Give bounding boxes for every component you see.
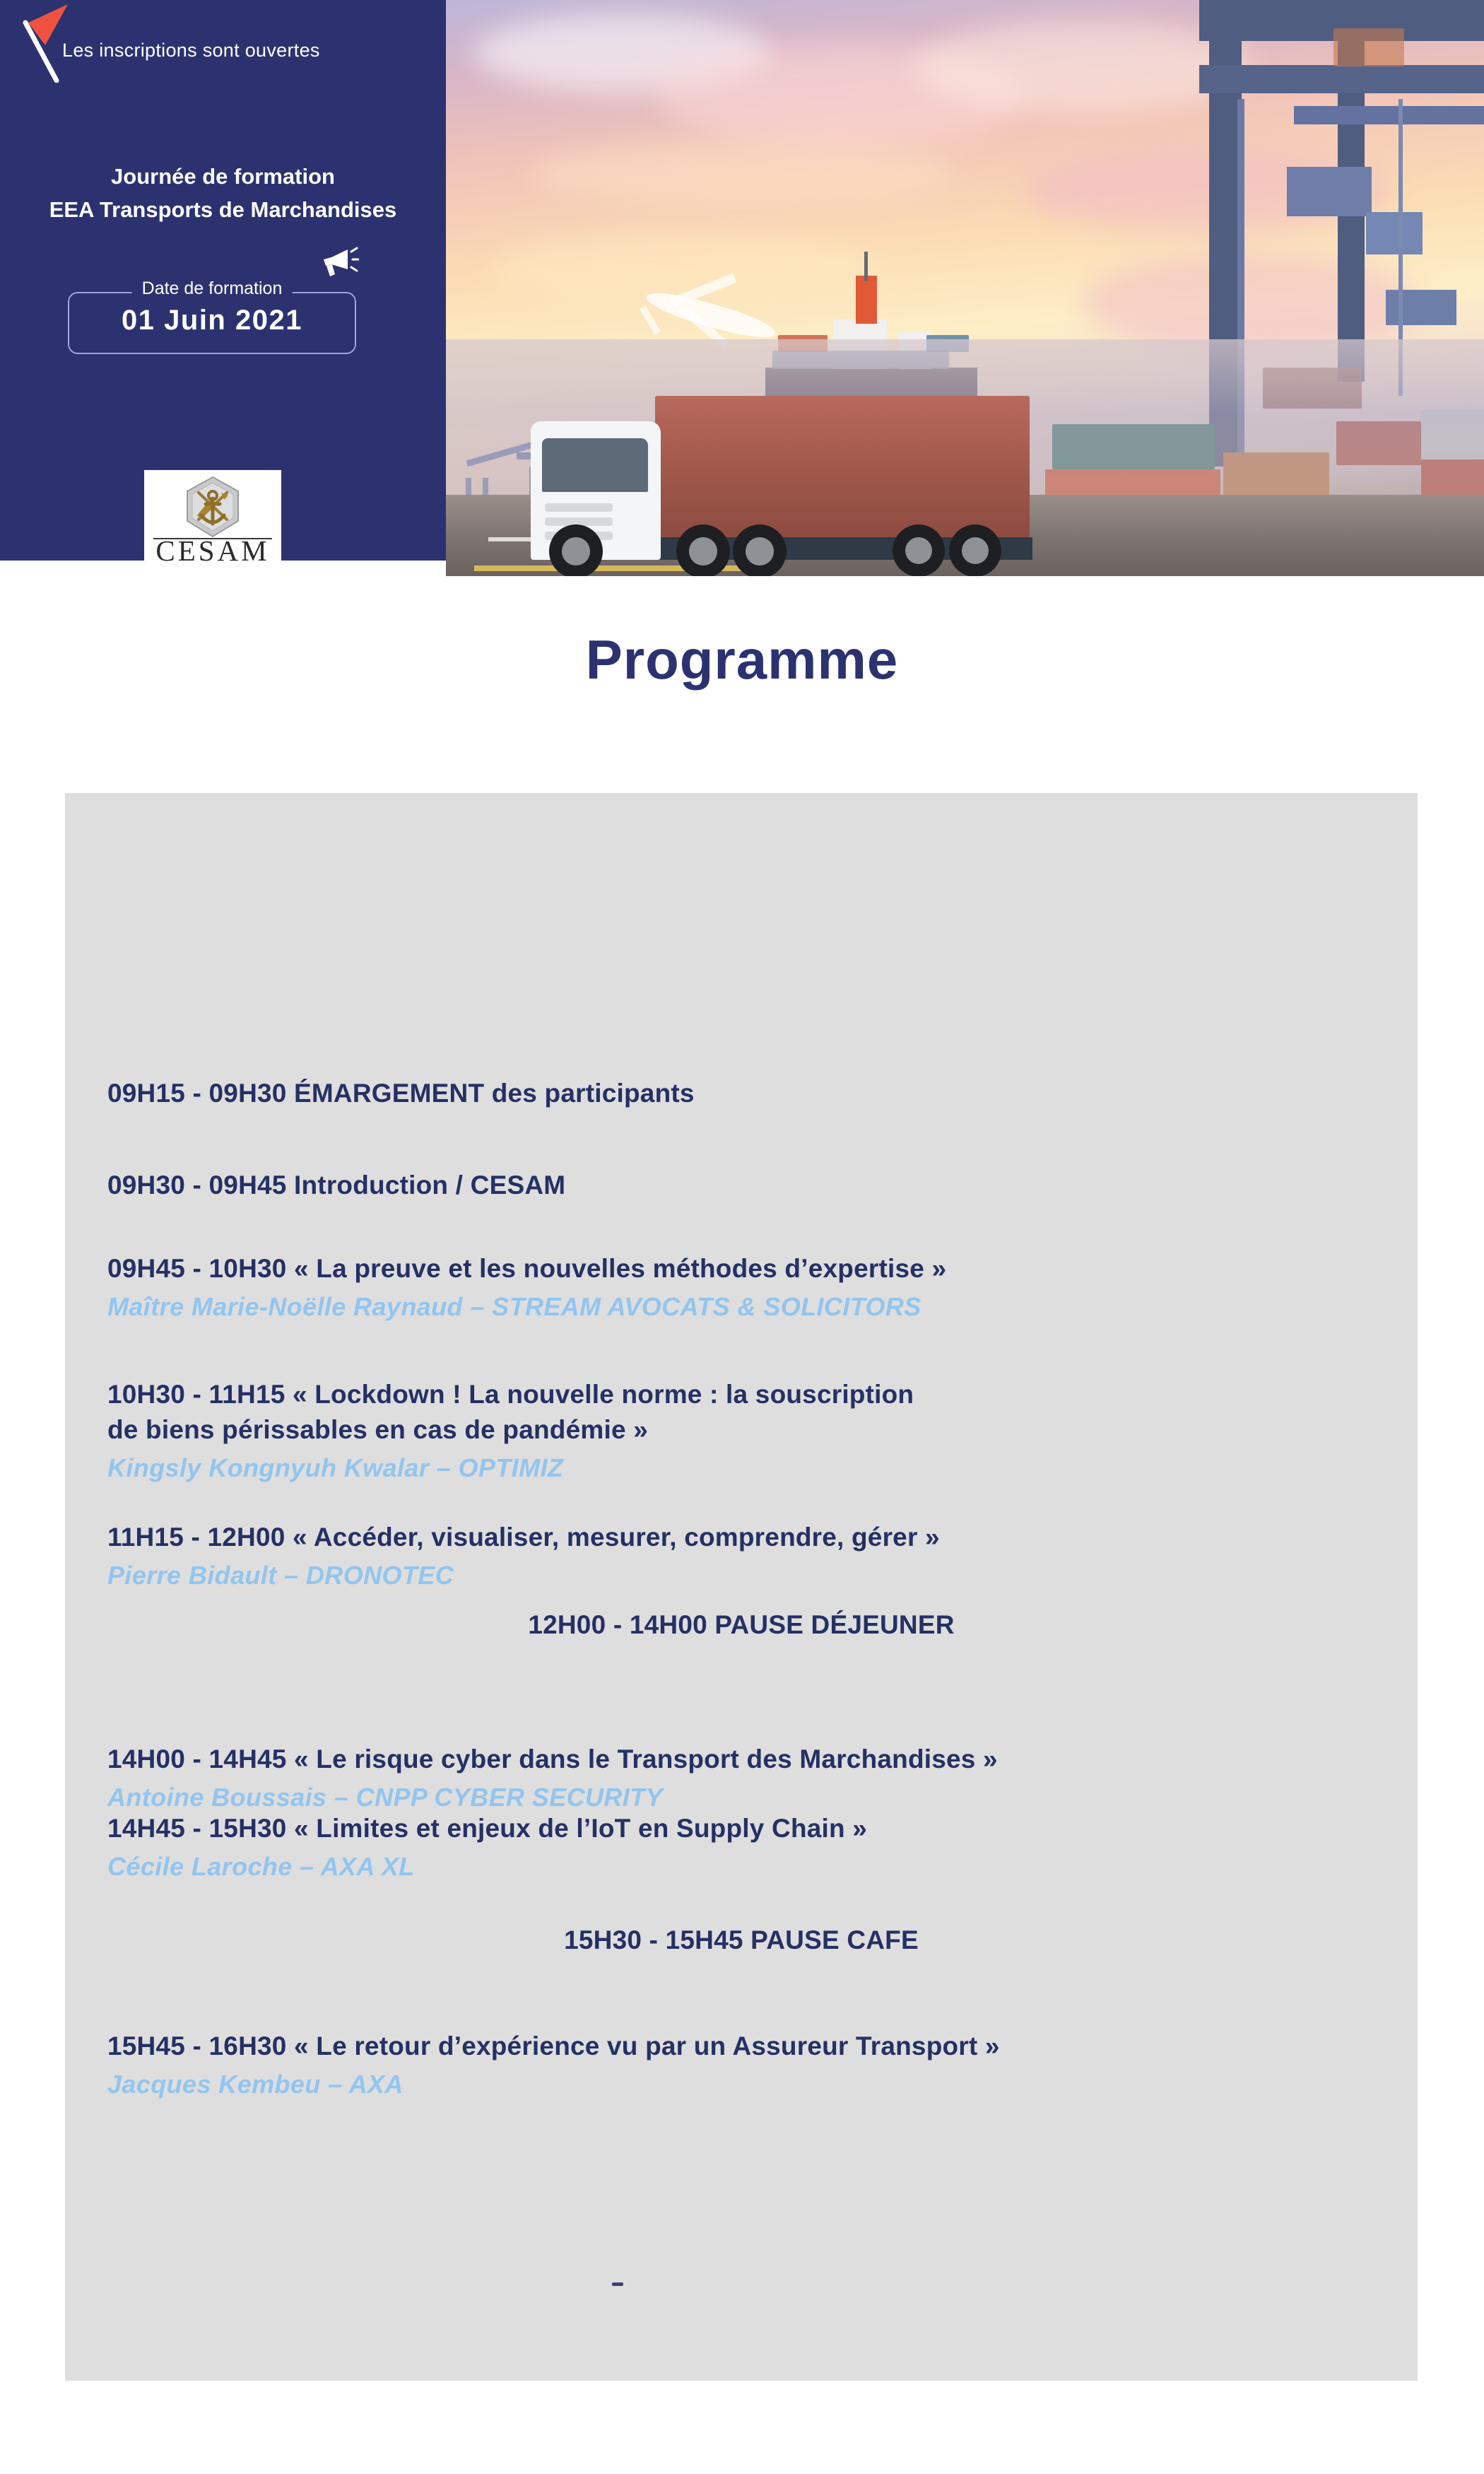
hero-image <box>446 0 1484 576</box>
program-entry: 14H00 - 14H45 « Le risque cyber dans le … <box>107 1742 998 1815</box>
program-entry: 09H15 - 09H30 ÉMARGEMENT des participant… <box>107 1076 695 1111</box>
program-entry-title: 15H30 - 15H45 PAUSE CAFE <box>65 1923 1418 1958</box>
date-box: Date de formation 01 Juin 2021 <box>68 292 356 354</box>
header-banner: Les inscriptions sont ouvertes Journée d… <box>0 0 1484 580</box>
cesam-wordmark: CESAM <box>144 537 281 565</box>
event-title-line-1: Journée de formation <box>0 160 446 193</box>
program-entry-title: 09H45 - 10H30 « La preuve et les nouvell… <box>107 1251 946 1286</box>
program-entry-title: 09H15 - 09H30 ÉMARGEMENT des participant… <box>107 1076 695 1111</box>
date-label: Date de formation <box>132 279 293 299</box>
program-entry: 11H15 - 12H00 « Accéder, visualiser, mes… <box>107 1520 940 1593</box>
event-title-line-2: EEA Transports de Marchandises <box>0 193 446 226</box>
program-entry-speaker: Maître Marie-Noëlle Raynaud – STREAM AVO… <box>107 1290 946 1324</box>
program-entry: 15H30 - 15H45 PAUSE CAFE <box>65 1923 1418 1958</box>
program-entry-title: 11H15 - 12H00 « Accéder, visualiser, mes… <box>107 1520 940 1555</box>
program-entry-title: 15H45 - 16H30 « Le retour d’expérience v… <box>107 2029 1000 2064</box>
program-entry: 09H30 - 09H45 Introduction / CESAM <box>107 1168 565 1203</box>
cesam-hexagon-anchor-emblem-icon <box>180 474 245 539</box>
announcement-text: Les inscriptions sont ouvertes <box>62 40 387 61</box>
page-title: Programme <box>0 628 1484 692</box>
program-entry-title: 14H00 - 14H45 « Le risque cyber dans le … <box>107 1742 998 1777</box>
program-entry: 15H45 - 16H30 « Le retour d’expérience v… <box>107 2029 1000 2101</box>
program-entry: 09H45 - 10H30 « La preuve et les nouvell… <box>107 1251 946 1324</box>
megaphone-icon <box>319 246 359 283</box>
cesam-logo: CESAM <box>144 470 281 565</box>
program-entry: 12H00 - 14H00 PAUSE DÉJEUNER <box>65 1607 1418 1643</box>
program-entry-speaker: Cécile Laroche – AXA XL <box>107 1850 867 1884</box>
program-entry-title: 12H00 - 14H00 PAUSE DÉJEUNER <box>65 1607 1418 1643</box>
program-entry-title: 14H45 - 15H30 « Limites et enjeux de l’I… <box>107 1811 867 1846</box>
event-title: Journée de formation EEA Transports de M… <box>0 160 446 226</box>
program-entry: 10H30 - 11H15 « Lockdown ! La nouvelle n… <box>107 1377 914 1485</box>
program-entry-title: 10H30 - 11H15 « Lockdown ! La nouvelle n… <box>107 1377 914 1448</box>
program-entry: 14H45 - 15H30 « Limites et enjeux de l’I… <box>107 1811 867 1884</box>
program-panel: 09H15 - 09H30 ÉMARGEMENT des participant… <box>65 793 1418 2381</box>
program-entry-title: 09H30 - 09H45 Introduction / CESAM <box>107 1168 565 1203</box>
program-entry-speaker: Kingsly Kongnyuh Kwalar – OPTIMIZ <box>107 1451 914 1485</box>
date-value: 01 Juin 2021 <box>69 305 355 336</box>
program-entry-speaker: Pierre Bidault – DRONOTEC <box>107 1559 940 1593</box>
stray-dash-mark <box>612 2282 623 2286</box>
program-entry-speaker: Jacques Kembeu – AXA <box>107 2068 1000 2101</box>
program-entry-speaker: Antoine Boussais – CNPP CYBER SECURITY <box>107 1781 998 1815</box>
